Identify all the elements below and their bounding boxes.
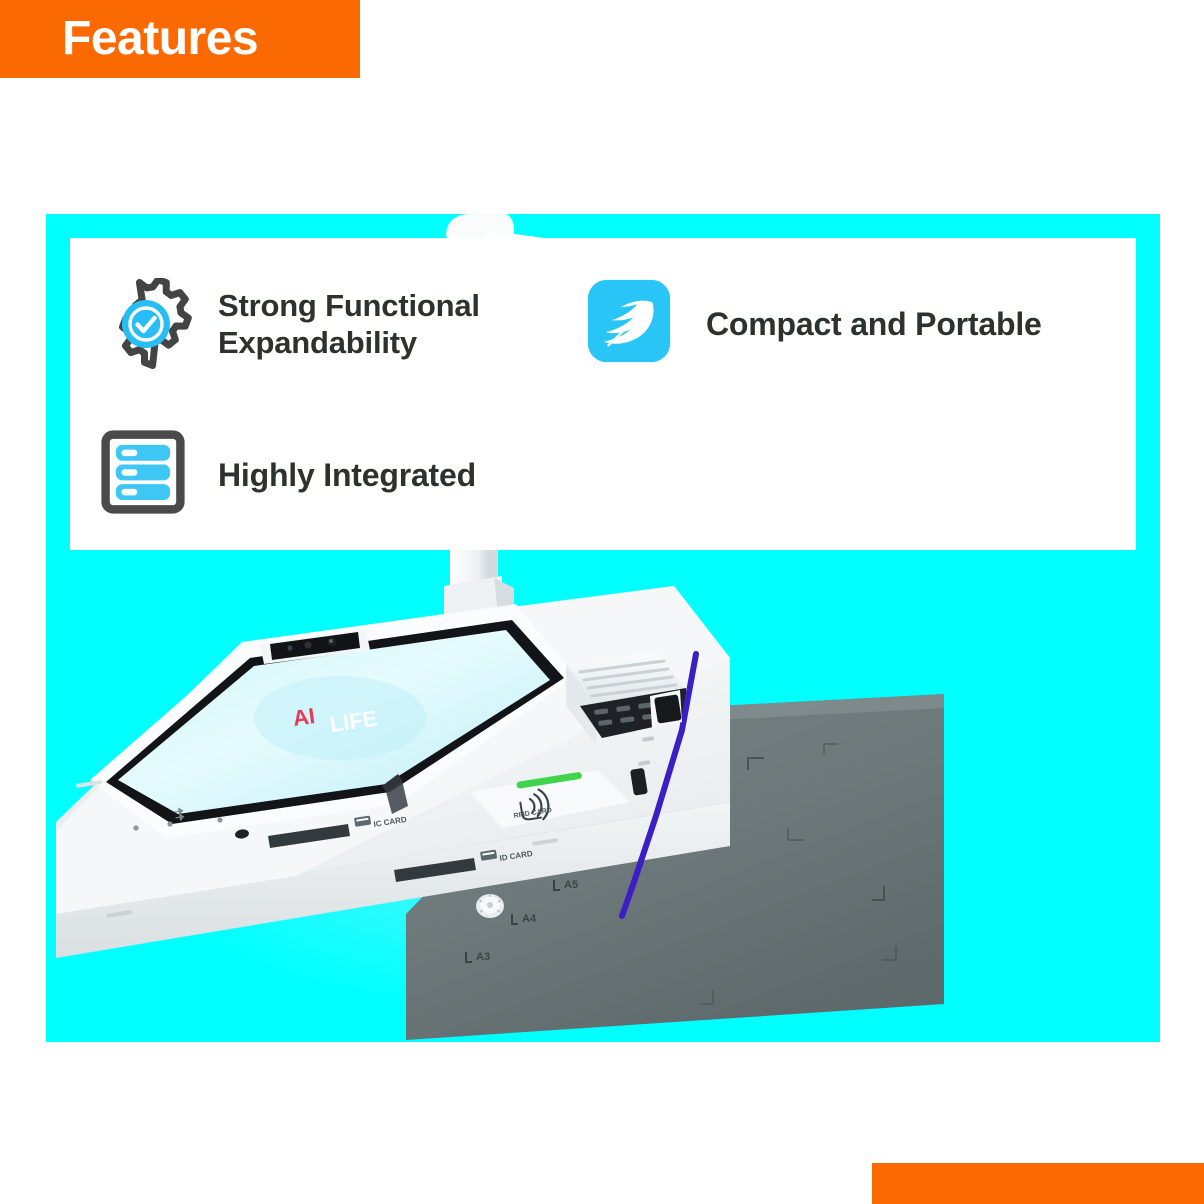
side-port — [630, 768, 648, 796]
feature-item-expandability[interactable]: Strong Functional Expandability — [100, 277, 570, 371]
feature-item-portable[interactable]: Compact and Portable — [586, 277, 1106, 371]
feature-label-line2: Expandability — [218, 325, 417, 360]
deck-controls — [76, 780, 250, 840]
gear-check-icon — [100, 278, 192, 370]
scanning-mat: A5 A4 A3 ID CARD — [406, 694, 944, 1040]
feather-icon — [586, 278, 678, 370]
slot-label-id: ID CARD — [499, 849, 534, 863]
front-vents — [106, 838, 558, 918]
rfid-label: RFID CARD — [513, 807, 552, 820]
header-banner: Features — [0, 0, 360, 78]
slot-label-ic: IC CARD — [373, 815, 408, 829]
mat-marker-a3: A3 — [476, 951, 490, 963]
fingerprint-reader — [650, 690, 682, 728]
page-title: Features — [62, 12, 258, 66]
rfid-pad: RFID CARD — [470, 770, 630, 828]
screen-logo-secondary: LIFE — [328, 706, 379, 737]
device-glow — [146, 704, 806, 1004]
feature-label-line1: Strong Functional — [218, 288, 480, 323]
feature-label-expandability: Strong Functional Expandability — [218, 287, 480, 361]
card-slot-id: ID CARD — [394, 849, 533, 882]
printer-module — [566, 652, 686, 744]
feature-label-portable: Compact and Portable — [706, 306, 1042, 343]
front-camera-bar — [260, 630, 370, 664]
mat-marker-a5: A5 — [564, 879, 578, 891]
mat-marker-a4: A4 — [522, 913, 537, 925]
screen-logo-primary: AI — [291, 703, 316, 731]
rotary-knob — [476, 894, 504, 918]
tablet-screen: AI LIFE — [90, 604, 576, 838]
status-indicators — [638, 736, 654, 766]
feature-item-integrated[interactable]: Highly Integrated — [100, 428, 570, 522]
mat-marker-idcard: ID CARD — [696, 787, 730, 796]
footer-accent-bar — [872, 1163, 1204, 1204]
server-rack-icon — [100, 429, 192, 521]
feature-label-integrated: Highly Integrated — [218, 457, 476, 494]
terminal-body: AI LIFE — [56, 586, 730, 958]
card-slot-ic: IC CARD — [268, 815, 407, 848]
accent-stripe — [622, 654, 696, 916]
